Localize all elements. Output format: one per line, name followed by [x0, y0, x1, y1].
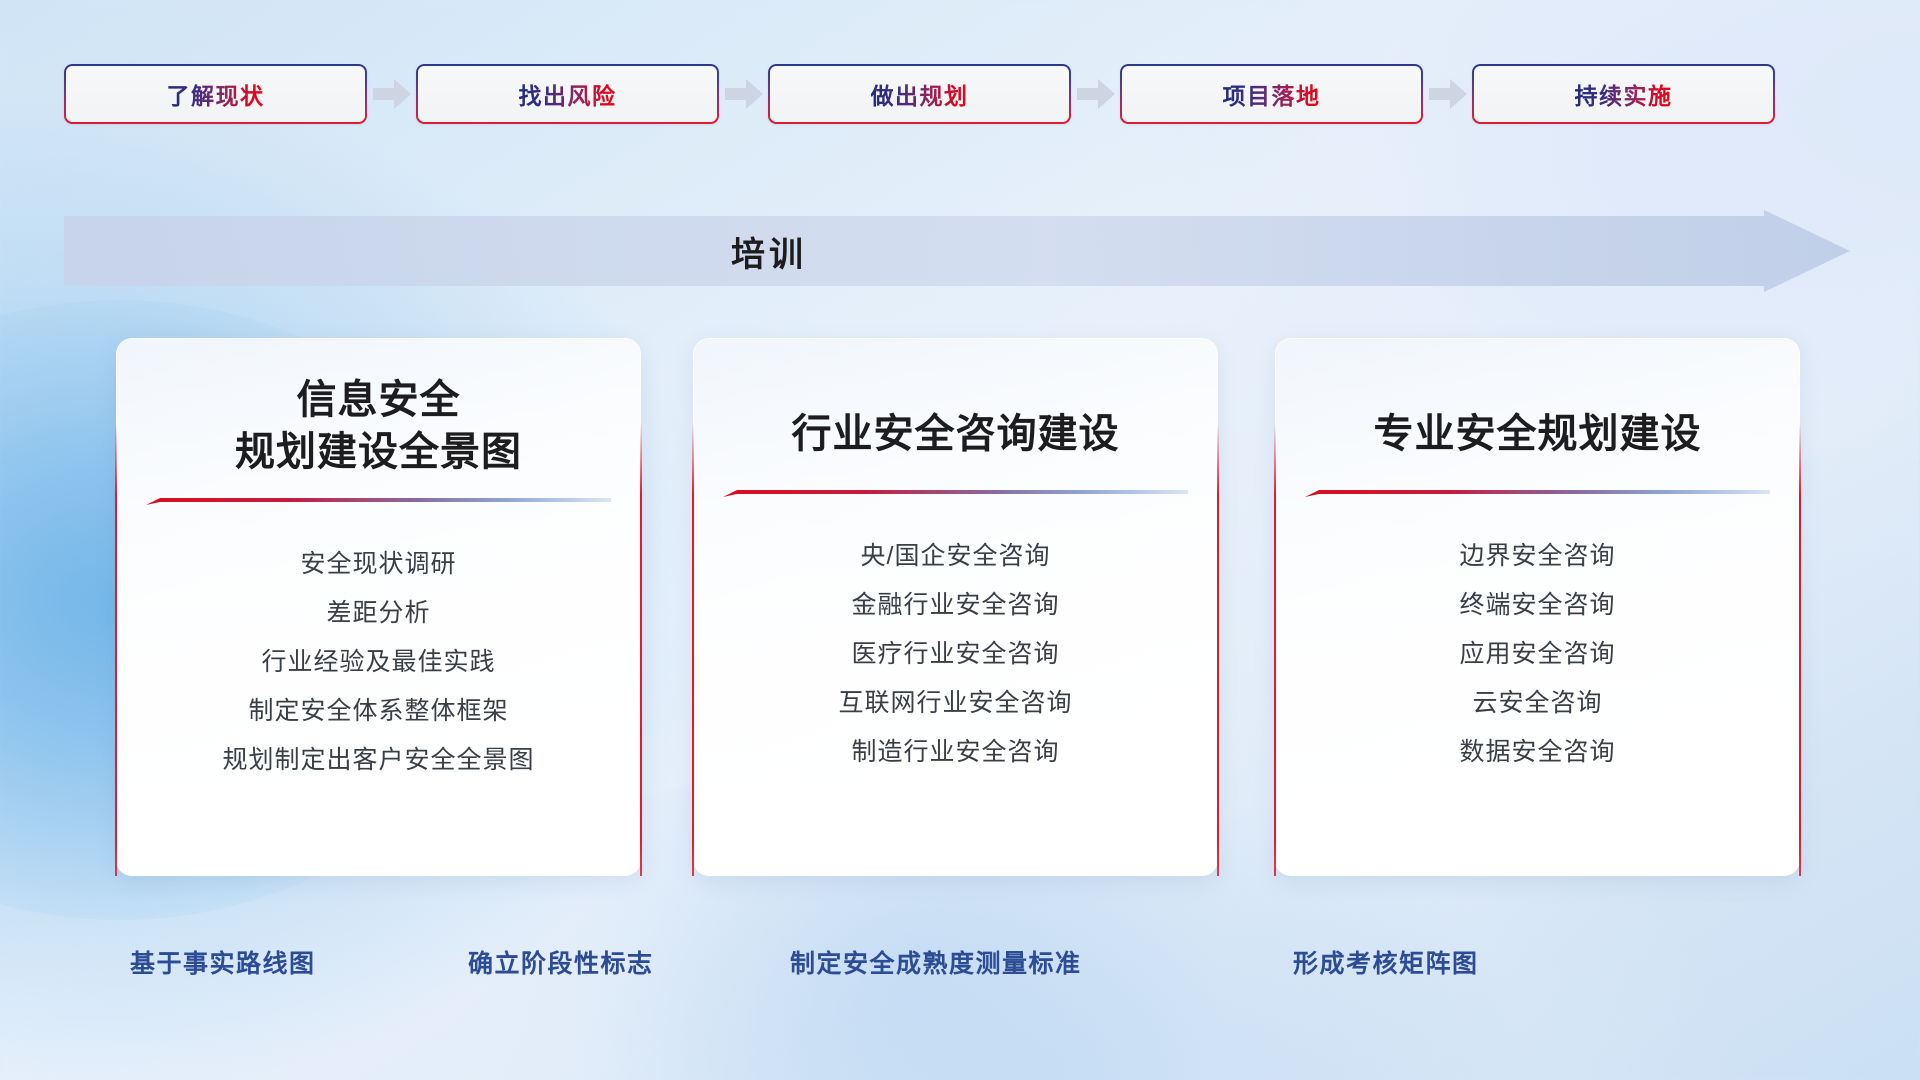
service-card-2[interactable]: 行业安全咨询建设 央/国企安全咨询	[693, 338, 1218, 876]
service-card-2-list: 央/国企安全咨询 金融行业安全咨询 医疗行业安全咨询 互联网行业安全咨询 制造行…	[723, 532, 1188, 777]
service-card-1-list: 安全现状调研 差距分析 行业经验及最佳实践 制定安全体系整体框架 规划制定出客户…	[146, 540, 611, 785]
service-card-row: 信息安全 规划建设全景图 安全现状调研	[0, 338, 1920, 878]
outcome-caption-1: 基于事实路线图	[130, 940, 316, 984]
list-item: 制造行业安全咨询	[723, 728, 1188, 777]
card-3-divider	[1305, 484, 1770, 500]
card-1-divider	[146, 492, 611, 508]
service-card-3-title: 专业安全规划建设	[1305, 374, 1770, 460]
training-banner-title: 培训	[64, 210, 1474, 292]
outcome-caption-4: 形成考核矩阵图	[1293, 940, 1479, 984]
process-step-3-label: 做出规划	[871, 77, 969, 111]
process-step-2[interactable]: 找出风险	[416, 64, 719, 124]
process-step-4[interactable]: 项目落地	[1120, 64, 1423, 124]
list-item: 互联网行业安全咨询	[723, 679, 1188, 728]
list-item: 安全现状调研	[146, 540, 611, 589]
step-arrow-icon-3	[1071, 79, 1120, 109]
list-item: 边界安全咨询	[1305, 532, 1770, 581]
outcome-caption-2: 确立阶段性标志	[468, 940, 654, 984]
service-card-1[interactable]: 信息安全 规划建设全景图 安全现状调研	[116, 338, 641, 876]
list-item: 规划制定出客户安全全景图	[146, 736, 611, 785]
step-arrow-icon-1	[367, 79, 416, 109]
list-item: 医疗行业安全咨询	[723, 630, 1188, 679]
step-arrow-icon-4	[1423, 79, 1472, 109]
step-arrow-icon-2	[719, 79, 768, 109]
service-card-3-list: 边界安全咨询 终端安全咨询 应用安全咨询 云安全咨询 数据安全咨询	[1305, 532, 1770, 777]
outcome-caption-3: 制定安全成熟度测量标准	[790, 940, 1082, 984]
list-item: 央/国企安全咨询	[723, 532, 1188, 581]
list-item: 数据安全咨询	[1305, 728, 1770, 777]
process-step-5[interactable]: 持续实施	[1472, 64, 1775, 124]
process-step-2-label: 找出风险	[519, 77, 617, 111]
service-card-1-title: 信息安全 规划建设全景图	[146, 374, 611, 478]
list-item: 应用安全咨询	[1305, 630, 1770, 679]
service-card-3[interactable]: 专业安全规划建设 边界安全咨询	[1275, 338, 1800, 876]
process-step-row: 了解现状 找出风险 做出规划 项目落地 持续实施	[0, 64, 1920, 124]
training-banner: 培训	[64, 210, 1850, 292]
process-step-1[interactable]: 了解现状	[64, 64, 367, 124]
list-item: 差距分析	[146, 589, 611, 638]
process-step-5-label: 持续实施	[1575, 77, 1673, 111]
list-item: 云安全咨询	[1305, 679, 1770, 728]
service-card-2-title: 行业安全咨询建设	[723, 374, 1188, 460]
outcome-caption-row: 基于事实路线图 确立阶段性标志 制定安全成熟度测量标准 形成考核矩阵图	[0, 940, 1920, 984]
list-item: 终端安全咨询	[1305, 581, 1770, 630]
card-2-divider	[723, 484, 1188, 500]
list-item: 制定安全体系整体框架	[146, 687, 611, 736]
list-item: 行业经验及最佳实践	[146, 638, 611, 687]
process-step-3[interactable]: 做出规划	[768, 64, 1071, 124]
list-item: 金融行业安全咨询	[723, 581, 1188, 630]
process-step-1-label: 了解现状	[167, 77, 265, 111]
process-step-4-label: 项目落地	[1223, 77, 1321, 111]
